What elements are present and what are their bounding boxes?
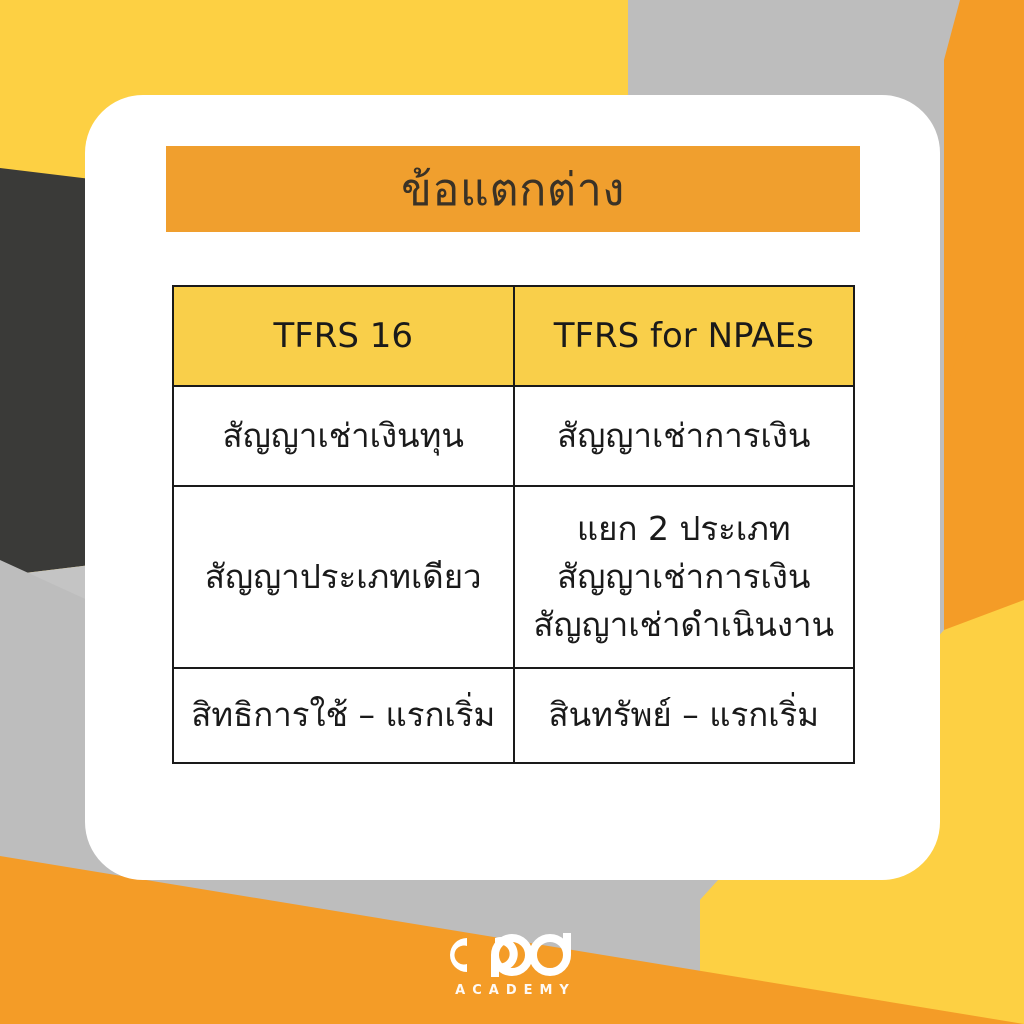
content-card: ข้อแตกต่าง TFRS 16 TFRS for NPAEs สัญญาเ… <box>85 95 940 880</box>
table-row: สัญญาเช่าเงินทุน สัญญาเช่าการเงิน <box>173 386 854 486</box>
brand-logo: ACADEMY <box>0 930 1024 998</box>
cell-row1-right: สัญญาเช่าการเงิน <box>514 386 855 486</box>
cell-row3-left: สิทธิการใช้ – แรกเริ่ม <box>173 668 514 763</box>
comparison-table-wrapper: TFRS 16 TFRS for NPAEs สัญญาเช่าเงินทุน … <box>172 285 855 764</box>
cpd-logo-icon <box>437 930 587 980</box>
cell-line: สัญญาเช่าดำเนินงาน <box>533 605 834 645</box>
column-header-tfrs-npaes: TFRS for NPAEs <box>514 286 855 386</box>
cell-line: สัญญาเช่าการเงิน <box>557 557 810 597</box>
logo-subtitle: ACADEMY <box>448 983 576 998</box>
table-body: สัญญาเช่าเงินทุน สัญญาเช่าการเงิน สัญญาป… <box>173 386 854 763</box>
cell-line: สัญญาประเภทเดียว <box>205 557 482 597</box>
cell-row1-left: สัญญาเช่าเงินทุน <box>173 386 514 486</box>
cell-line: สินทรัพย์ – แรกเริ่ม <box>549 695 819 735</box>
cell-lines: สินทรัพย์ – แรกเริ่ม <box>515 695 854 735</box>
cell-line: สัญญาเช่าเงินทุน <box>223 416 464 456</box>
cell-row3-right: สินทรัพย์ – แรกเริ่ม <box>514 668 855 763</box>
cell-lines: สัญญาเช่าการเงิน <box>515 416 854 456</box>
cell-lines: แยก 2 ประเภท สัญญาเช่าการเงิน สัญญาเช่าด… <box>515 509 854 646</box>
table-header: TFRS 16 TFRS for NPAEs <box>173 286 854 386</box>
column-header-tfrs16: TFRS 16 <box>173 286 514 386</box>
table-header-row: TFRS 16 TFRS for NPAEs <box>173 286 854 386</box>
cell-line: สิทธิการใช้ – แรกเริ่ม <box>191 695 495 735</box>
comparison-table: TFRS 16 TFRS for NPAEs สัญญาเช่าเงินทุน … <box>172 285 855 764</box>
title-banner: ข้อแตกต่าง <box>166 146 860 232</box>
cell-row2-right: แยก 2 ประเภท สัญญาเช่าการเงิน สัญญาเช่าด… <box>514 486 855 668</box>
cell-lines: สิทธิการใช้ – แรกเริ่ม <box>174 695 513 735</box>
cell-row2-left: สัญญาประเภทเดียว <box>173 486 514 668</box>
cell-lines: สัญญาประเภทเดียว <box>174 557 513 597</box>
table-row: สิทธิการใช้ – แรกเริ่ม สินทรัพย์ – แรกเร… <box>173 668 854 763</box>
cell-lines: สัญญาเช่าเงินทุน <box>174 416 513 456</box>
table-row: สัญญาประเภทเดียว แยก 2 ประเภท สัญญาเช่าก… <box>173 486 854 668</box>
page-title: ข้อแตกต่าง <box>401 167 625 212</box>
cell-line: แยก 2 ประเภท <box>577 509 791 549</box>
cell-line: สัญญาเช่าการเงิน <box>557 416 810 456</box>
